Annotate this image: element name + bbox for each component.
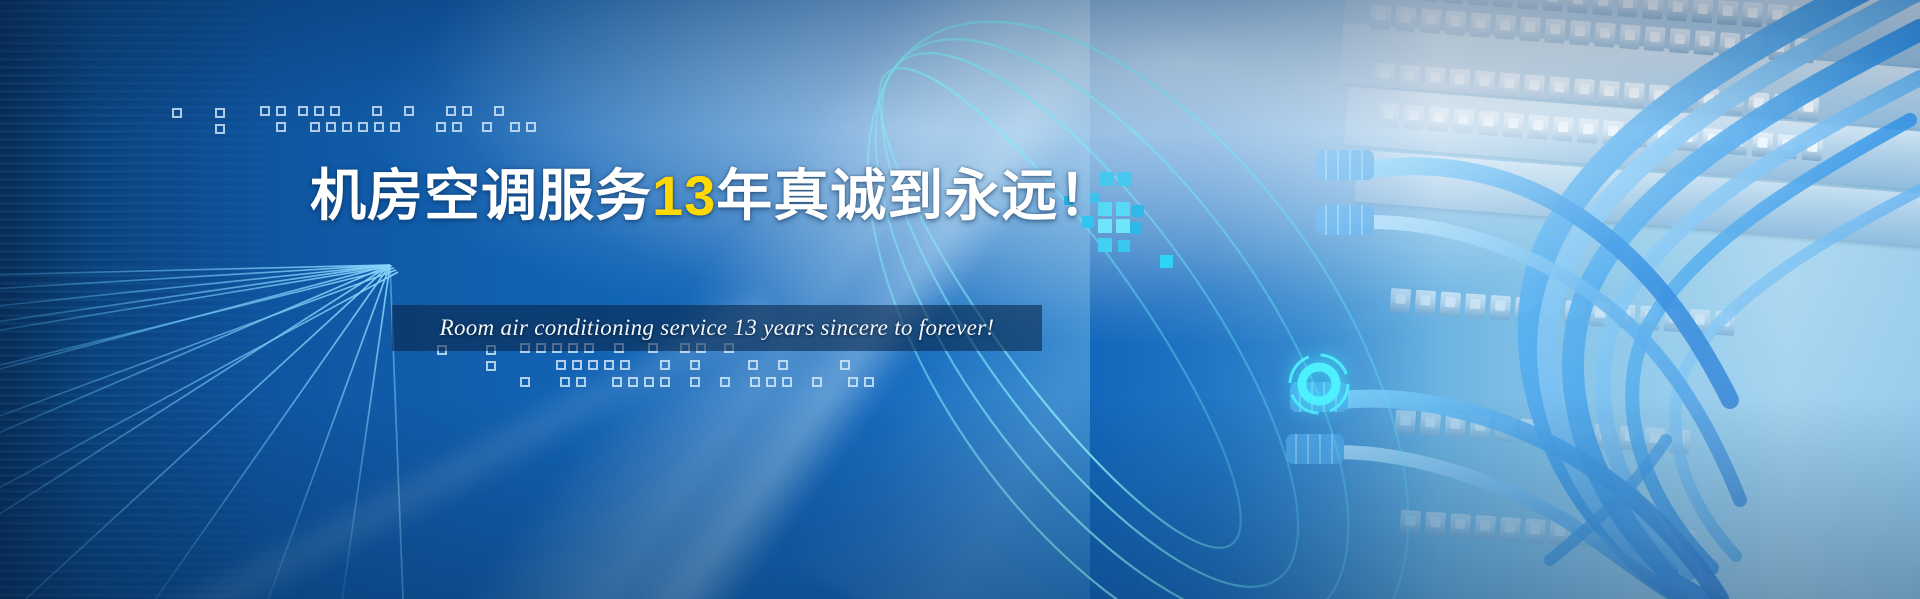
pixel-square-outline <box>644 377 654 387</box>
pixel-square-solid <box>1160 255 1173 268</box>
pixel-square-outline <box>848 377 858 387</box>
headline-part-1: 机房空调服务 <box>310 164 652 227</box>
pixel-square-outline <box>276 122 286 132</box>
banner-headline: 机房空调服务13年真诚到永远！ <box>310 168 1115 224</box>
pixel-square-solid <box>1118 240 1130 252</box>
pixel-square-outline <box>690 377 700 387</box>
pixel-square-outline <box>326 122 336 132</box>
headline-part-2: 年真诚到永远 <box>716 164 1058 227</box>
banner-subtitle: Room air conditioning service 13 years s… <box>392 305 1042 351</box>
pixel-square-outline <box>330 106 340 116</box>
pixel-square-outline <box>310 122 320 132</box>
pixel-square-outline <box>446 106 456 116</box>
pixel-square-outline <box>612 377 622 387</box>
pixel-square-outline <box>404 106 414 116</box>
pixel-square-outline <box>660 360 670 370</box>
pixel-square-outline <box>556 360 566 370</box>
pixel-square-outline <box>660 377 670 387</box>
pixel-square-outline <box>276 106 286 116</box>
pixel-square-outline <box>358 122 368 132</box>
pixel-square-outline <box>374 122 384 132</box>
pixel-square-outline <box>452 122 462 132</box>
pixel-square-outline <box>690 360 700 370</box>
pixel-square-outline <box>494 106 504 116</box>
pixel-square-outline <box>298 106 308 116</box>
pixel-square-solid <box>1130 222 1142 234</box>
pixel-square-outline <box>864 377 874 387</box>
pixel-square-outline <box>576 377 586 387</box>
headline-exclamation: ！ <box>1058 164 1115 227</box>
vignette-overlay <box>0 0 1920 599</box>
pixel-square-outline <box>588 360 598 370</box>
pixel-square-outline <box>766 377 776 387</box>
pixel-square-solid <box>1098 238 1112 252</box>
pixel-square-outline <box>390 122 400 132</box>
hero-banner: 机房空调服务13年真诚到永远！ Room air conditioning se… <box>0 0 1920 599</box>
pixel-square-solid <box>1116 202 1130 216</box>
pixel-square-outline <box>750 377 760 387</box>
pixel-square-solid <box>1132 205 1144 217</box>
pixel-square-outline <box>215 108 225 118</box>
pixel-square-solid <box>1118 172 1132 186</box>
pixel-square-outline <box>172 108 182 118</box>
pixel-square-outline <box>260 106 270 116</box>
pixel-square-outline <box>778 360 788 370</box>
pixel-square-outline <box>620 360 630 370</box>
pixel-square-outline <box>604 360 614 370</box>
pixel-square-outline <box>510 122 520 132</box>
pixel-square-outline <box>748 360 758 370</box>
pixel-square-outline <box>372 106 382 116</box>
pixel-square-outline <box>812 377 822 387</box>
pixel-square-outline <box>436 122 446 132</box>
headline-years-number: 13 <box>652 164 716 227</box>
pixel-square-outline <box>215 124 225 134</box>
pixel-square-outline <box>314 106 324 116</box>
pixel-square-outline <box>572 360 582 370</box>
pixel-square-outline <box>482 122 492 132</box>
pixel-square-outline <box>840 360 850 370</box>
pixel-square-outline <box>720 377 730 387</box>
pixel-square-outline <box>560 377 570 387</box>
pixel-square-outline <box>526 122 536 132</box>
pixel-square-outline <box>462 106 472 116</box>
pixel-square-solid <box>1116 219 1130 233</box>
pixel-square-outline <box>520 377 530 387</box>
pixel-square-outline <box>628 377 638 387</box>
pixel-square-outline <box>486 361 496 371</box>
pixel-square-outline <box>342 122 352 132</box>
pixel-square-outline <box>782 377 792 387</box>
